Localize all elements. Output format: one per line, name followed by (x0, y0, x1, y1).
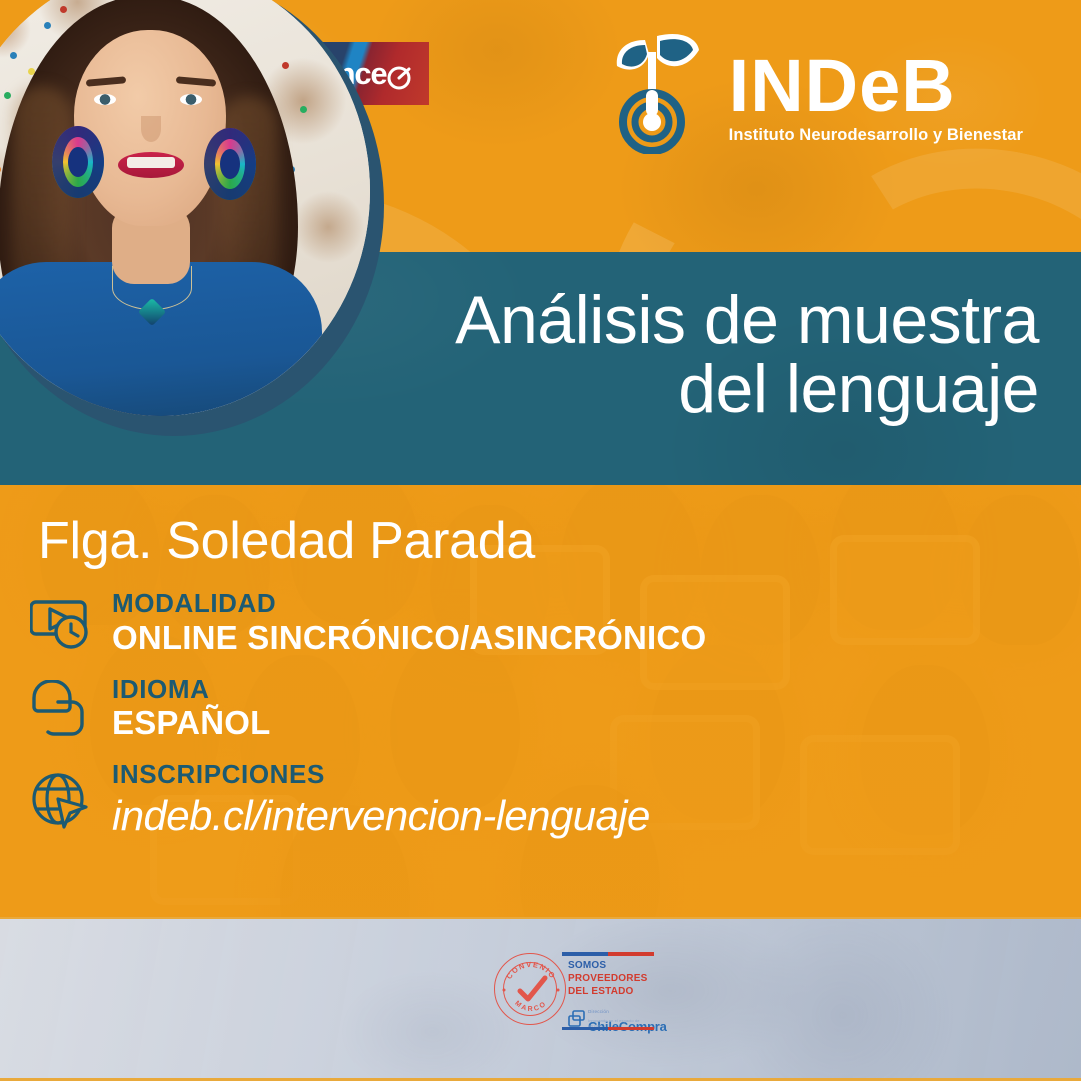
globe-cursor-icon (30, 771, 92, 829)
teeth (127, 157, 175, 168)
detail-value-modalidad: ONLINE SINCRÓNICO/ASINCRÓNICO (112, 619, 706, 658)
speaker-name: Flga. Soledad Parada (38, 511, 535, 571)
speech-bubbles-icon (30, 680, 92, 738)
video-clock-icon (30, 594, 92, 652)
registration-url[interactable]: indeb.cl/intervencion-lenguaje (112, 791, 650, 841)
logo-word-part1: IND (729, 44, 859, 127)
detail-value-idioma: ESPAÑOL (112, 704, 270, 743)
detail-row-idioma: IDIOMA ESPAÑOL (30, 675, 706, 744)
sence-at-icon (387, 62, 411, 86)
detail-label-idioma: IDIOMA (112, 675, 270, 704)
chilecompra-brand-prefix: Dirección (588, 1009, 609, 1014)
convenio-marco-stamp: CONVENIO MARCO (494, 953, 566, 1025)
svg-text:MARCO: MARCO (513, 1000, 548, 1013)
logo-word-part2: e (859, 44, 901, 127)
logo-tagline: Instituto Neurodesarrollo y Bienestar (729, 126, 1023, 145)
chilecompra-bottom-bar (562, 1027, 654, 1031)
logo-word-part3: B (901, 44, 955, 127)
chilecompra-top-bar (562, 952, 654, 956)
detail-label-inscripciones: INSCRIPCIONES (112, 760, 650, 789)
chilecompra-badge[interactable]: SOMOS PROVEEDORES DEL ESTADO Dirección C… (562, 952, 654, 1030)
earring-left (52, 126, 104, 198)
chilecompra-squares-icon (568, 1010, 585, 1027)
detail-row-inscripciones: INSCRIPCIONES indeb.cl/intervencion-leng… (30, 760, 706, 840)
promotional-flyer: INDeB Instituto Neurodesarrollo y Bienes… (0, 0, 1081, 1081)
indeb-logo[interactable]: INDeB Instituto Neurodesarrollo y Bienes… (605, 26, 1023, 154)
sprout-target-logo-icon (605, 26, 715, 154)
chilecompra-line-2: PROVEEDORES (568, 973, 647, 984)
logo-wordmark: INDeB Instituto Neurodesarrollo y Bienes… (729, 26, 1023, 145)
detail-rows: MODALIDAD ONLINE SINCRÓNICO/ASINCRÓNICO … (30, 589, 706, 857)
detail-label-modalidad: MODALIDAD (112, 589, 706, 618)
avatar (0, 0, 370, 416)
detail-row-modalidad: MODALIDAD ONLINE SINCRÓNICO/ASINCRÓNICO (30, 589, 706, 658)
check-mark-icon: CONVENIO MARCO (495, 954, 567, 1026)
chilecompra-line-1: SOMOS (568, 960, 606, 971)
earring-right (204, 128, 256, 200)
chilecompra-line-3: DEL ESTADO (568, 986, 634, 997)
svg-text:CONVENIO: CONVENIO (504, 960, 557, 981)
nose (141, 116, 161, 142)
